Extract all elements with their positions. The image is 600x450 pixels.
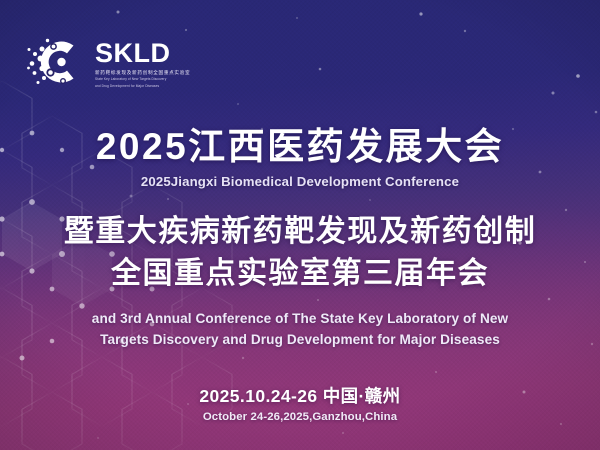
headline-block: 2025江西医药发展大会 2025Jiangxi Biomedical Deve… xyxy=(0,126,600,351)
logo-english-name-line1: State Key Laboratory of New Targets Disc… xyxy=(95,77,190,82)
date-location-english: October 24-26,2025,Ganzhou,China xyxy=(0,411,600,423)
main-title-chinese: 2025江西医药发展大会 xyxy=(0,126,600,167)
skld-molecular-c-logo-icon xyxy=(26,33,88,91)
subtitle-english-block: and 3rd Annual Conference of The State K… xyxy=(0,309,600,350)
subtitle-chinese-line1: 暨重大疾病新药靶发现及新药创制 xyxy=(0,213,600,251)
logo-wordmark-block: SKLD 新药靶标发现及新药创制全国重点实验室 State Key Labora… xyxy=(95,36,190,88)
logo-wordmark: SKLD xyxy=(95,40,190,67)
venue-block: 2025.10.24-26 中国·赣州 October 24-26,2025,G… xyxy=(0,383,600,423)
date-location-chinese: 2025.10.24-26 中国·赣州 xyxy=(0,383,600,408)
skld-logo: SKLD 新药靶标发现及新药创制全国重点实验室 State Key Labora… xyxy=(26,33,190,91)
subtitle-english-line1: and 3rd Annual Conference of The State K… xyxy=(0,309,600,330)
conference-poster: SKLD 新药靶标发现及新药创制全国重点实验室 State Key Labora… xyxy=(0,0,600,450)
logo-english-name-line2: and Drug Development for Major Diseases xyxy=(95,84,190,89)
logo-chinese-name: 新药靶标发现及新药创制全国重点实验室 xyxy=(95,70,190,76)
subtitle-english-line2: Targets Discovery and Drug Development f… xyxy=(0,330,600,351)
subtitle-chinese-line2: 全国重点实验室第三届年会 xyxy=(0,255,600,293)
main-title-english: 2025Jiangxi Biomedical Development Confe… xyxy=(0,174,600,189)
